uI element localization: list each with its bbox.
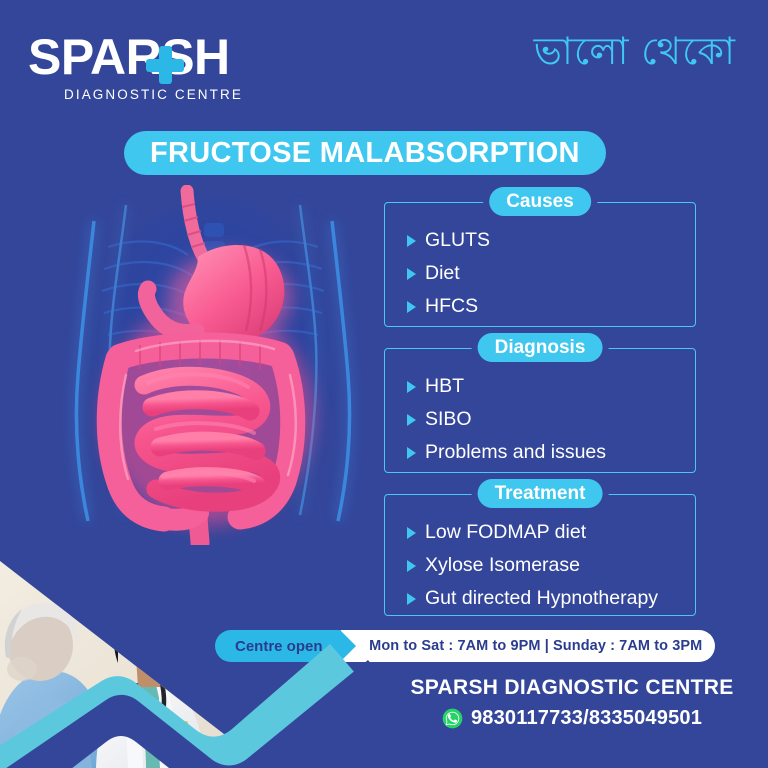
digestive-system-anatomy-illustration — [48, 185, 378, 545]
brand-subtitle: DIAGNOSTIC CENTRE — [64, 87, 268, 102]
list-item: Gut directed Hypnotherapy — [407, 587, 695, 610]
section-treatment: Treatment Low FODMAP diet Xylose Isomera… — [384, 494, 696, 616]
list-item-label: Xylose Isomerase — [425, 554, 580, 577]
brand-wordmark: SPARSH — [28, 32, 268, 82]
list-item: GLUTS — [407, 229, 695, 252]
opening-hours-label: Centre open — [215, 630, 341, 662]
medical-cross-icon — [146, 46, 184, 84]
footer-phone-row[interactable]: 9830117733/8335049501 — [392, 707, 752, 730]
infographic-poster: SPARSH DIAGNOSTIC CENTRE ভালো থেকো FRUCT… — [0, 0, 768, 768]
section-causes-header-label: Causes — [489, 187, 591, 216]
section-diagnosis-header: Diagnosis — [472, 333, 609, 362]
list-item-label: HFCS — [425, 295, 478, 318]
list-item: Diet — [407, 262, 695, 285]
list-item-label: SIBO — [425, 408, 472, 431]
list-item: Problems and issues — [407, 441, 695, 464]
footer-phone-number: 9830117733/8335049501 — [471, 707, 702, 730]
triangle-bullet-icon — [407, 593, 416, 605]
list-item: HBT — [407, 375, 695, 398]
triangle-bullet-icon — [407, 235, 416, 247]
section-diagnosis-header-label: Diagnosis — [478, 333, 603, 362]
triangle-bullet-icon — [407, 447, 416, 459]
list-item-label: HBT — [425, 375, 464, 398]
opening-hours-value: Mon to Sat : 7AM to 9PM | Sunday : 7AM t… — [341, 630, 715, 662]
list-item-label: Problems and issues — [425, 441, 606, 464]
list-item-label: GLUTS — [425, 229, 490, 252]
section-diagnosis-list: HBT SIBO Problems and issues — [385, 349, 695, 464]
page-title-text: FRUCTOSE MALABSORPTION — [150, 137, 580, 170]
section-causes: Causes GLUTS Diet HFCS — [384, 202, 696, 327]
triangle-bullet-icon — [407, 268, 416, 280]
footer: SPARSH DIAGNOSTIC CENTRE 9830117733/8335… — [392, 676, 752, 730]
triangle-bullet-icon — [407, 560, 416, 572]
list-item: Low FODMAP diet — [407, 521, 695, 544]
triangle-bullet-icon — [407, 381, 416, 393]
page-title: FRUCTOSE MALABSORPTION — [124, 131, 606, 175]
section-treatment-list: Low FODMAP diet Xylose Isomerase Gut dir… — [385, 495, 695, 610]
brand-logo: SPARSH DIAGNOSTIC CENTRE — [28, 32, 268, 102]
list-item: Xylose Isomerase — [407, 554, 695, 577]
triangle-bullet-icon — [407, 414, 416, 426]
section-causes-header: Causes — [483, 187, 597, 216]
section-treatment-header-label: Treatment — [478, 479, 603, 508]
list-item: SIBO — [407, 408, 695, 431]
whatsapp-icon — [442, 708, 463, 729]
list-item: HFCS — [407, 295, 695, 318]
section-treatment-header: Treatment — [472, 479, 609, 508]
section-diagnosis: Diagnosis HBT SIBO Problems and issues — [384, 348, 696, 473]
list-item-label: Diet — [425, 262, 460, 285]
brand-wordmark-text: SPARSH — [28, 29, 230, 85]
section-causes-list: GLUTS Diet HFCS — [385, 203, 695, 318]
footer-centre-name: SPARSH DIAGNOSTIC CENTRE — [392, 676, 752, 700]
tagline-bengali: ভালো থেকো — [534, 30, 736, 76]
opening-hours-bar: Centre open Mon to Sat : 7AM to 9PM | Su… — [215, 630, 715, 662]
triangle-bullet-icon — [407, 301, 416, 313]
triangle-bullet-icon — [407, 527, 416, 539]
list-item-label: Gut directed Hypnotherapy — [425, 587, 658, 610]
list-item-label: Low FODMAP diet — [425, 521, 586, 544]
